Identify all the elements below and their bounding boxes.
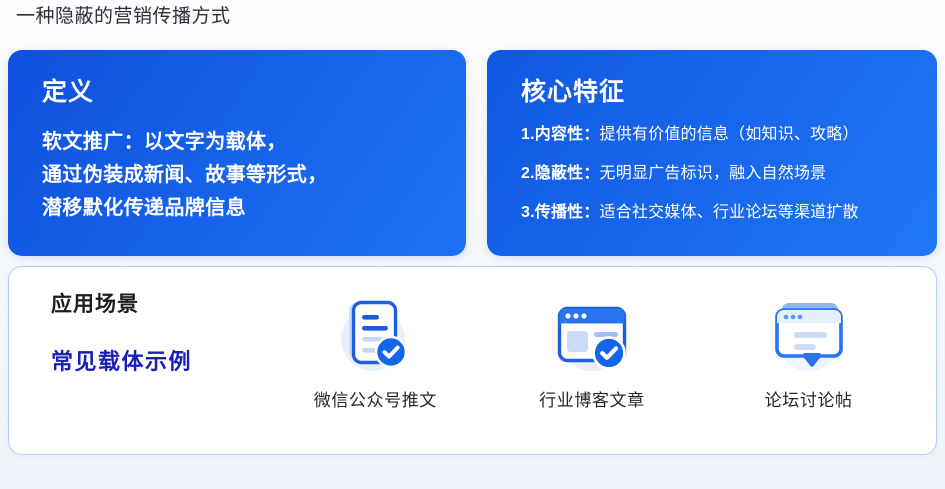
core-features-card-heading: 核心特征 (521, 76, 909, 108)
scenarios-subheading: 常见载体示例 (51, 347, 192, 377)
definition-card-heading: 定义 (42, 76, 438, 108)
feature-list-item: 2.隐蔽性：无明显广告标识，融入自然场景 (521, 163, 909, 185)
feature-list-item: 1.内容性：提供有价值的信息（如知识、攻略） (521, 124, 909, 146)
definition-line-2: 通过伪装成新闻、故事等形式， (42, 159, 438, 192)
feature-item-key: 3.传播性： (521, 204, 600, 221)
scenario-item-wechat-article: 微信公众号推文 (275, 289, 475, 413)
scenario-items-row: 微信公众号推文 (267, 289, 917, 439)
document-check-icon (327, 289, 423, 385)
feature-item-key: 1.内容性： (521, 126, 600, 143)
core-features-list: 1.内容性：提供有价值的信息（如知识、攻略） 2.隐蔽性：无明显广告标识，融入自… (521, 124, 909, 224)
definition-line-3: 潜移默化传递品牌信息 (42, 192, 438, 225)
feature-item-key: 2.隐蔽性： (521, 165, 600, 182)
feature-item-value: 适合社交媒体、行业论坛等渠道扩散 (600, 204, 859, 221)
scenarios-heading: 应用场景 (51, 291, 139, 319)
slide-root: 一种隐蔽的营销传播方式 定义 软文推广：以文字为载体， 通过伪装成新闻、故事等形… (0, 0, 945, 489)
scenario-item-label: 微信公众号推文 (314, 389, 437, 413)
scenario-item-industry-blog: 行业博客文章 (492, 289, 692, 413)
scenario-item-label: 论坛讨论帖 (765, 389, 853, 413)
feature-list-item: 3.传播性：适合社交媒体、行业论坛等渠道扩散 (521, 202, 909, 224)
scenario-item-label: 行业博客文章 (539, 389, 645, 413)
page-title: 一种隐蔽的营销传播方式 (16, 3, 231, 31)
forum-chat-window-icon (761, 289, 857, 385)
top-cards-row: 定义 软文推广：以文字为载体， 通过伪装成新闻、故事等形式， 潜移默化传递品牌信… (8, 50, 937, 256)
browser-window-check-icon (544, 289, 640, 385)
application-scenarios-card: 应用场景 常见载体示例 (8, 266, 937, 455)
feature-item-value: 提供有价值的信息（如知识、攻略） (600, 126, 859, 143)
definition-card: 定义 软文推广：以文字为载体， 通过伪装成新闻、故事等形式， 潜移默化传递品牌信… (8, 50, 466, 256)
core-features-card: 核心特征 1.内容性：提供有价值的信息（如知识、攻略） 2.隐蔽性：无明显广告标… (487, 50, 937, 256)
definition-line-1: 软文推广：以文字为载体， (42, 126, 438, 159)
scenario-item-forum-thread: 论坛讨论帖 (709, 289, 909, 413)
definition-card-body: 软文推广：以文字为载体， 通过伪装成新闻、故事等形式， 潜移默化传递品牌信息 (42, 126, 438, 225)
feature-item-value: 无明显广告标识，融入自然场景 (600, 165, 827, 182)
